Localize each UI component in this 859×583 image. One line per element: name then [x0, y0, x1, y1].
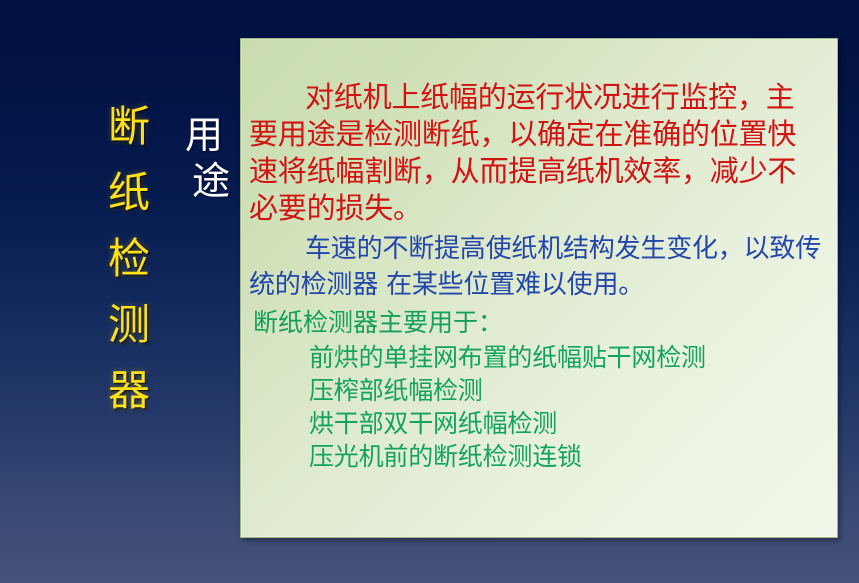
list-item: 前烘的单挂网布置的纸幅贴干网检测 — [309, 341, 831, 374]
title-char-3: 检 — [108, 238, 150, 280]
title-char-1: 断 — [108, 106, 150, 148]
slide-canvas: 断 纸 检 测 器 用 途 对纸机上纸幅的运行状况进行监控，主要用途是检测断纸，… — [0, 0, 859, 583]
slide-subtitle-vertical: 用 途 — [180, 112, 228, 204]
green-application-list: 前烘的单挂网布置的纸幅贴干网检测 压榨部纸幅检测 烘干部双干网纸幅检测 压光机前… — [249, 341, 831, 473]
paragraph-speed-blue: 车速的不断提高使纸机结构发生变化，以致传统的检测器 在某些位置难以使用。 — [249, 231, 821, 303]
title-char-5: 器 — [108, 370, 150, 412]
panel-body: 对纸机上纸幅的运行状况进行监控，主要用途是检测断纸，以确定在准确的位置快速将纸幅… — [241, 79, 837, 473]
title-char-2: 纸 — [108, 172, 150, 214]
subtitle-char-2: 途 — [192, 158, 230, 204]
paragraph-purpose-red: 对纸机上纸幅的运行状况进行监控，主要用途是检测断纸，以确定在准确的位置快速将纸幅… — [249, 79, 809, 227]
list-item: 压榨部纸幅检测 — [309, 374, 831, 407]
slide-title-vertical: 断 纸 检 测 器 — [98, 106, 160, 412]
subtitle-char-1: 用 — [185, 112, 223, 158]
list-item: 压光机前的断纸检测连锁 — [309, 440, 831, 473]
title-char-4: 测 — [108, 304, 150, 346]
list-item: 烘干部双干网纸幅检测 — [309, 407, 831, 440]
content-panel: 对纸机上纸幅的运行状况进行监控，主要用途是检测断纸，以确定在准确的位置快速将纸幅… — [240, 38, 838, 538]
green-section-heading: 断纸检测器主要用于： — [249, 305, 831, 341]
